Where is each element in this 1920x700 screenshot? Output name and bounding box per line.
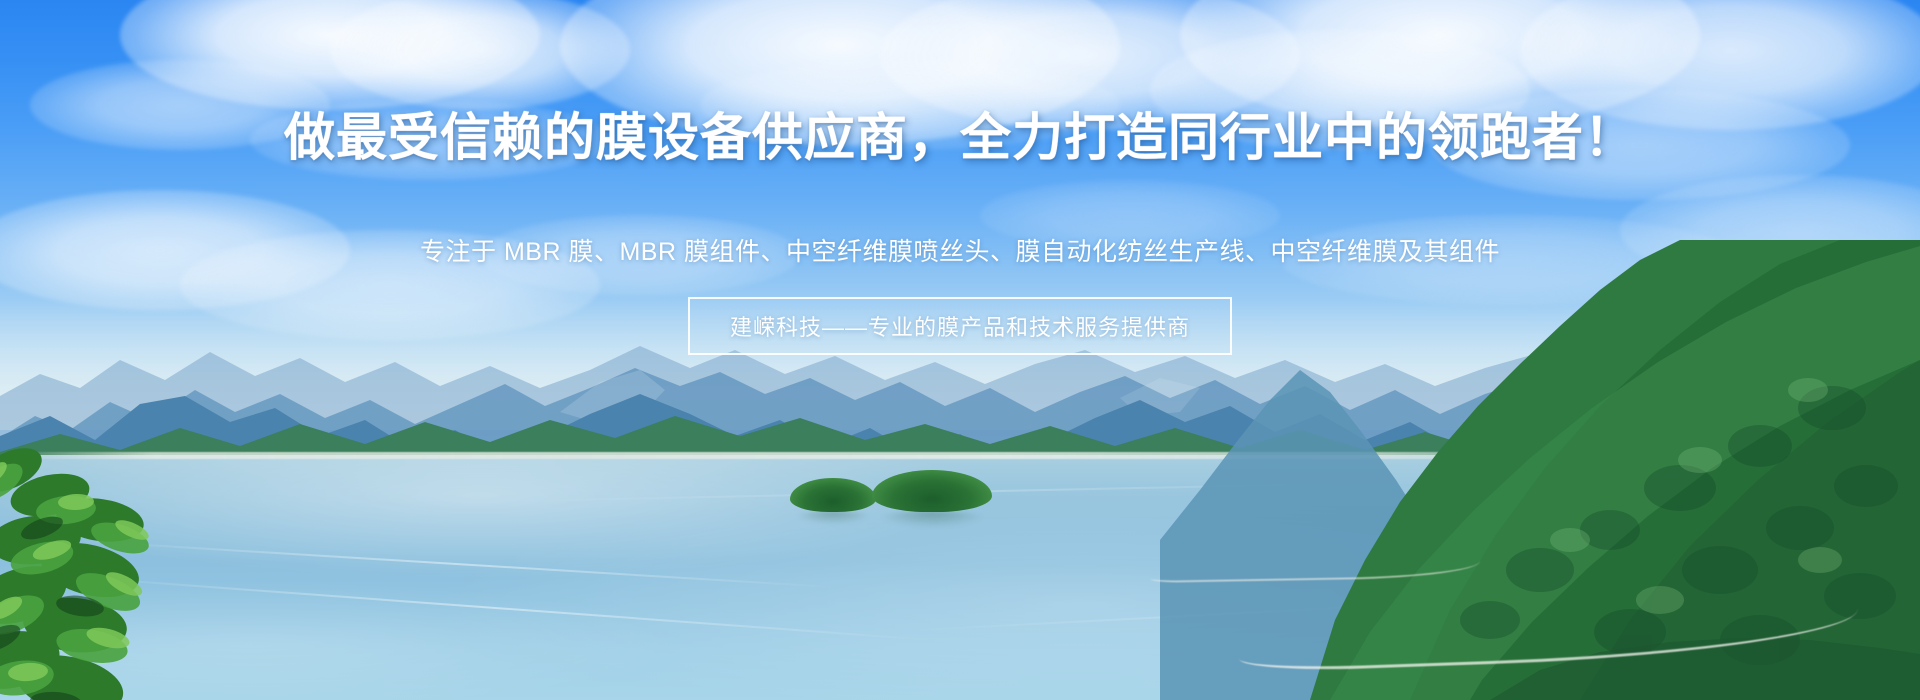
islet-trees: [872, 470, 992, 512]
hero-banner: 做最受信赖的膜设备供应商，全力打造同行业中的领跑者！ 专注于 MBR 膜、MBR…: [0, 0, 1920, 700]
right-forested-massif: [1160, 240, 1920, 700]
foreground-foliage-branch: [0, 410, 310, 700]
banner-subheadline: 专注于 MBR 膜、MBR 膜组件、中空纤维膜喷丝头、膜自动化纺丝生产线、中空纤…: [420, 232, 1500, 268]
banner-headline: 做最受信赖的膜设备供应商，全力打造同行业中的领跑者！: [284, 96, 1636, 170]
banner-tagline-box: 建嵘科技——专业的膜产品和技术服务提供商: [688, 297, 1232, 355]
islet-reflection: [879, 511, 985, 527]
islet-trees: [790, 478, 876, 512]
lake-islet: [872, 470, 992, 512]
lake-islet: [790, 478, 876, 512]
